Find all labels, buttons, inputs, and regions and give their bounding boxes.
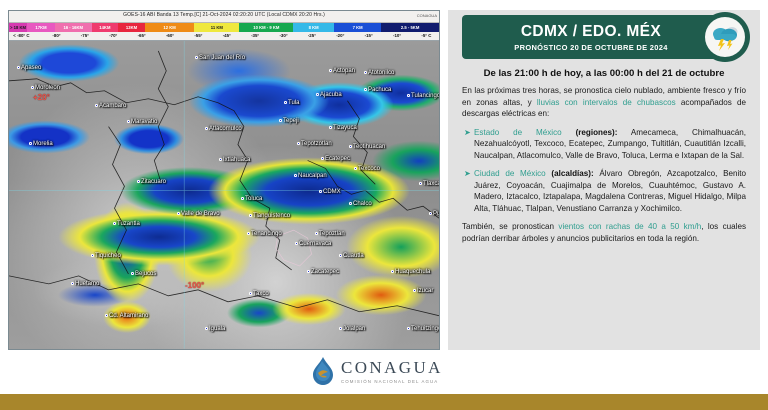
intro-highlight: lluvias con intervalos de chubascos [537,98,676,107]
city-label: Valle de Bravo [177,211,220,217]
city-label: Izucar [413,288,433,294]
region-qualifier: (regiones): [576,128,618,137]
legend-band: 11 KM [194,23,239,32]
list-item: ➤ Ciudad de México (alcaldías): Álvaro O… [464,168,746,214]
city-label: Tianguistenco [249,213,290,219]
legend-band: 14KM [92,23,119,32]
legend-band: 17KM [27,23,55,32]
closing-highlight: vientos con rachas de 40 a 50 km/h [558,222,701,231]
temperature-tick: -45° [223,33,231,38]
city-label: Cd. Altamirano [105,313,148,319]
city-label: Bejucos [131,271,156,277]
forecast-header: CDMX / EDO. MÉX PRONÓSTICO 20 DE OCTUBRE… [448,10,760,64]
satellite-title: GOES-16 ABI Banda 13 Temp.[C] 21-Oct-202… [9,12,439,18]
temperature-tick: -15° [365,33,373,38]
city-label: Tula [284,100,299,106]
temperature-tick: -75° [81,33,89,38]
header-title: CDMX / EDO. MÉX [521,23,661,41]
legend-band: 13KM [118,23,145,32]
legend-band: 10 KM - 9 KM [239,23,293,32]
forecast-closing: También, se pronostican vientos con rach… [462,221,746,244]
city-label: Cuernavaca [295,241,331,247]
city-label: Ajacuba [316,92,342,98]
city-label: Tepoztlan [315,231,345,237]
contour-label-minus100: -100° [185,281,204,290]
legend-band: 7 KM [334,23,381,32]
region-name: Ciudad de México [474,169,546,178]
temperature-tick: -5° C [421,33,431,38]
city-label: Toluca [241,196,262,202]
city-label: Tehuitzingo [407,326,439,332]
city-label: San Juan del Río [195,55,245,61]
logo-tagline: COMISIÓN NACIONAL DEL AGUA [341,379,443,384]
city-label: Taxco [249,291,269,297]
satellite-corner-note: CONAGUA [417,13,437,18]
temperature-tick: -80° [52,33,60,38]
city-label: Huaquechula [391,269,430,275]
closing-prefix: También, se pronostican [462,222,558,231]
conagua-logo: CONAGUA COMISIÓN NACIONAL DEL AGUA [310,356,443,386]
city-label: Jolalpan [339,326,365,332]
city-label: Ecatepec [321,156,350,162]
temperature-tick: -70° [109,33,117,38]
city-label: Actopan [329,68,355,74]
city-label: Iguala [205,326,225,332]
logo-name: CONAGUA [341,358,443,378]
satellite-map-panel: GOES-16 ABI Banda 13 Temp.[C] 21-Oct-202… [8,10,440,350]
temperature-tick: -60° [166,33,174,38]
thunderstorm-badge [700,12,750,62]
forecast-intro: En las próximas tres horas, se pronostic… [462,85,746,119]
conagua-wordmark: CONAGUA COMISIÓN NACIONAL DEL AGUA [341,358,443,384]
contour-label-plus20: +20° [33,93,50,102]
city-label: Pachuca [364,87,391,93]
temperature-tick: -25° [308,33,316,38]
forecast-period: De las 21:00 h de hoy, a las 00:00 h del… [468,68,740,80]
city-label: Atlacomulco [205,126,242,132]
city-label: Tenancingo [247,231,282,237]
city-label: Acambaro [95,103,126,109]
city-label: Tiquicheo [91,253,121,259]
city-label: Atotonilco [364,70,394,76]
city-label: Tlaxcala [419,181,439,187]
city-label: Moroleon [31,85,60,91]
city-label: Huetamo [71,281,99,287]
list-item: ➤ Estado de México (regiones): Amecameca… [464,127,746,161]
footer-gold-bar [0,394,768,410]
legend-band: 2.5 - 5KM [381,23,439,32]
header-subtitle: PRONÓSTICO 20 DE OCTUBRE DE 2024 [514,43,667,52]
legend-band: 12 KM [145,23,194,32]
region-name: Estado de México [474,128,562,137]
city-label: Zacatepec [307,269,339,275]
satellite-imagery: San Juan del RíoMoroleonAcambaroTulaAjac… [9,41,439,350]
temperature-tick: -35° [251,33,259,38]
arrow-bullet-icon: ➤ [464,127,471,138]
temperature-tick: -65° [138,33,146,38]
city-label: CDMX [319,189,341,195]
city-label: Texcoco [354,166,380,172]
thunderstorm-icon [705,17,745,57]
temperature-tick: -20° [336,33,344,38]
forecast-panel: CDMX / EDO. MÉX PRONÓSTICO 20 DE OCTUBRE… [448,10,760,350]
city-label: Morelia [29,141,53,147]
affected-areas-list: ➤ Estado de México (regiones): Amecameca… [464,127,746,214]
temperature-tick: < -80° C [13,33,29,38]
color-legend: > 18 KM17KM16 - 16KM14KM13KM12 KM11 KM10… [9,23,439,32]
temperature-tick: -10° [393,33,401,38]
legend-band: 16 - 16KM [55,23,92,32]
city-label: Tizayuca [329,125,357,131]
temperature-tick: -55° [194,33,202,38]
satellite-title-bar: GOES-16 ABI Banda 13 Temp.[C] 21-Oct-202… [9,11,439,23]
city-label: Zitacuaro [137,179,166,185]
legend-band: > 18 KM [9,23,27,32]
city-label: Teotihuacan [349,144,385,150]
water-drop-icon [310,356,336,386]
header-banner: CDMX / EDO. MÉX PRONÓSTICO 20 DE OCTUBRE… [462,15,720,59]
city-label: Tuzantla [113,221,140,227]
city-label: Cuautla [339,253,364,259]
city-label: Maravatio [127,119,157,125]
temperature-tick-row: < -80° C-80°-75°-70°-65°-60°-55°-45°-35°… [9,32,439,41]
city-label: Ixtlahuaca [219,157,250,163]
region-qualifier: (alcaldías): [551,169,593,178]
city-label: Naucalpan [294,173,327,179]
arrow-bullet-icon: ➤ [464,168,471,179]
city-label: Tulancingo [407,93,439,99]
temperature-tick: -30° [279,33,287,38]
city-label: Apaseo [17,65,41,71]
footer: CONAGUA COMISIÓN NACIONAL DEL AGUA [0,352,768,392]
forecast-infographic: GOES-16 ABI Banda 13 Temp.[C] 21-Oct-202… [0,0,768,410]
city-label: Tepeji [279,118,299,124]
legend-band: 8 KM [293,23,334,32]
city-label: Tepotzotlan [297,141,332,147]
city-label: Chalco [349,201,372,207]
city-label: Puebla [429,211,439,217]
